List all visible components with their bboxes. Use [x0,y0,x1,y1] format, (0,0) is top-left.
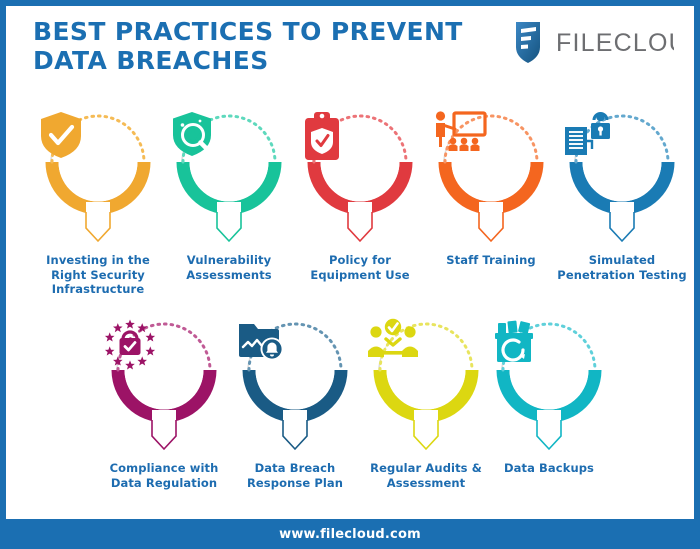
item-data-breach-response-plan[interactable]: Data Breach Response Plan [230,318,360,490]
item-label: Regular Audits & Assessment [361,461,491,490]
badge-7 [235,318,355,458]
item-label: Policy for Equipment Use [295,253,425,282]
row-2: Compliance with Data Regulation [6,318,696,508]
row-1: Investing in the Right Security Infrastr… [6,110,696,300]
page-title: BEST PRACTICES TO PREVENT DATA BREACHES [33,17,493,75]
item-investing-security[interactable]: Investing in the Right Security Infrastr… [33,110,163,297]
badge-1 [38,110,158,250]
item-label: Simulated Penetration Testing [557,253,687,282]
item-policy-equipment-use[interactable]: Policy for Equipment Use [295,110,425,282]
badge-5 [562,110,682,250]
filecloud-logo: FILECLOUD [514,20,674,66]
item-simulated-penetration-testing[interactable]: Simulated Penetration Testing [557,110,687,282]
item-label: Compliance with Data Regulation [99,461,229,490]
footer-bar: www.filecloud.com [0,520,700,549]
poster-card: BEST PRACTICES TO PREVENT DATA BREACHES [5,5,695,520]
item-data-backups[interactable]: Data Backups [484,318,614,476]
badge-4 [431,110,551,250]
item-vulnerability-assessments[interactable]: Vulnerability Assessments [164,110,294,282]
badge-8 [366,318,486,458]
item-staff-training[interactable]: Staff Training [426,110,556,268]
badge-9 [489,318,609,458]
poster-header: BEST PRACTICES TO PREVENT DATA BREACHES [6,6,696,96]
item-compliance-data-regulation[interactable]: Compliance with Data Regulation [99,318,229,490]
item-label: Vulnerability Assessments [164,253,294,282]
item-regular-audits-assessment[interactable]: Regular Audits & Assessment [361,318,491,490]
item-label: Data Backups [484,461,614,476]
filecloud-shield-icon [516,22,540,63]
infographic-poster: BEST PRACTICES TO PREVENT DATA BREACHES [0,0,700,549]
item-label: Data Breach Response Plan [230,461,360,490]
footer-url[interactable]: www.filecloud.com [279,527,421,542]
badge-3 [300,110,420,250]
filecloud-logo-text: FILECLOUD [556,29,674,57]
badge-6 [104,318,224,458]
item-label: Investing in the Right Security Infrastr… [33,253,163,297]
badge-2 [169,110,289,250]
item-label: Staff Training [426,253,556,268]
